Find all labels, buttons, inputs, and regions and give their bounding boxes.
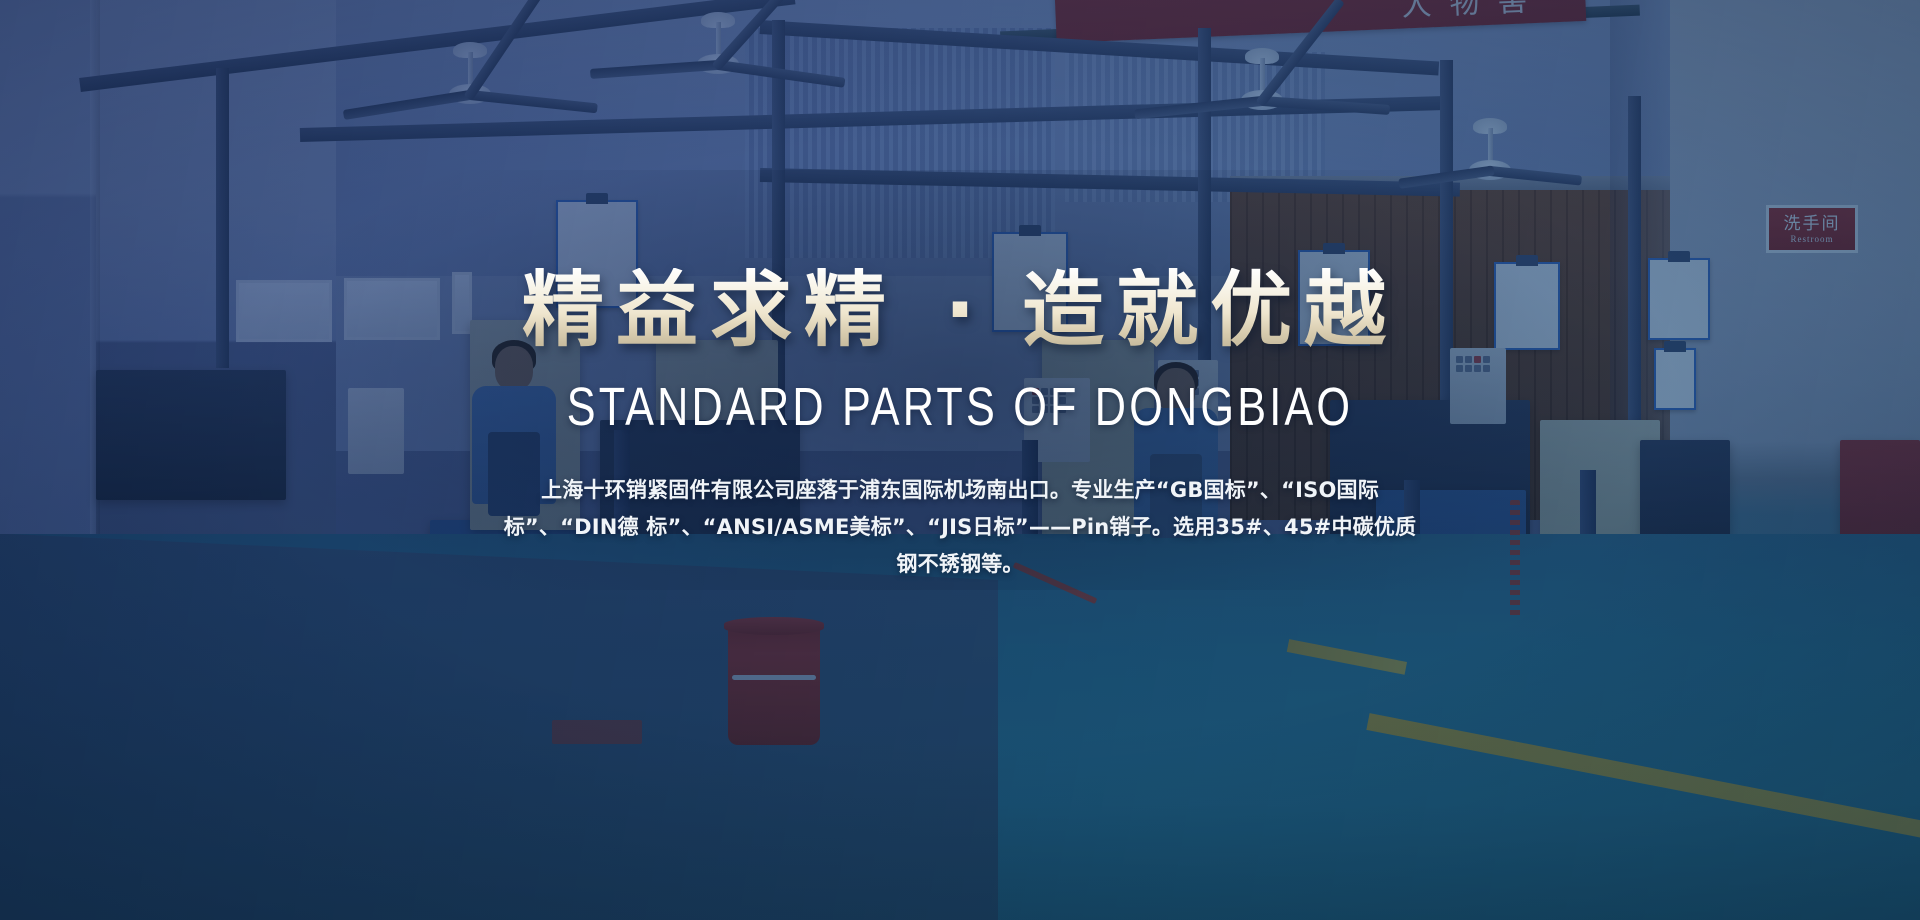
- headline-separator-dot: ·: [938, 263, 981, 358]
- hero-subtitle: STANDARD PARTS OF DONGBIAO: [192, 376, 1728, 438]
- hero-copy-block: 精益求精 · 造就优越 STANDARD PARTS OF DONGBIAO 上…: [0, 268, 1920, 582]
- headline-left-phrase: 精益求精: [522, 263, 898, 358]
- hero-description: 上海十环销紧固件有限公司座落于浦东国际机场南出口。专业生产“GB国标”、“ISO…: [495, 472, 1425, 582]
- hero-banner: 洗手间 Restroom 人物害: [0, 0, 1920, 920]
- hero-description-line-2: 标”、“ANSI/ASME美标”、“JIS日标”——Pin销子。选用35#、45…: [646, 515, 1416, 576]
- headline-right-phrase: 造就优越: [1022, 263, 1398, 358]
- hero-headline: 精益求精 · 造就优越: [0, 268, 1920, 354]
